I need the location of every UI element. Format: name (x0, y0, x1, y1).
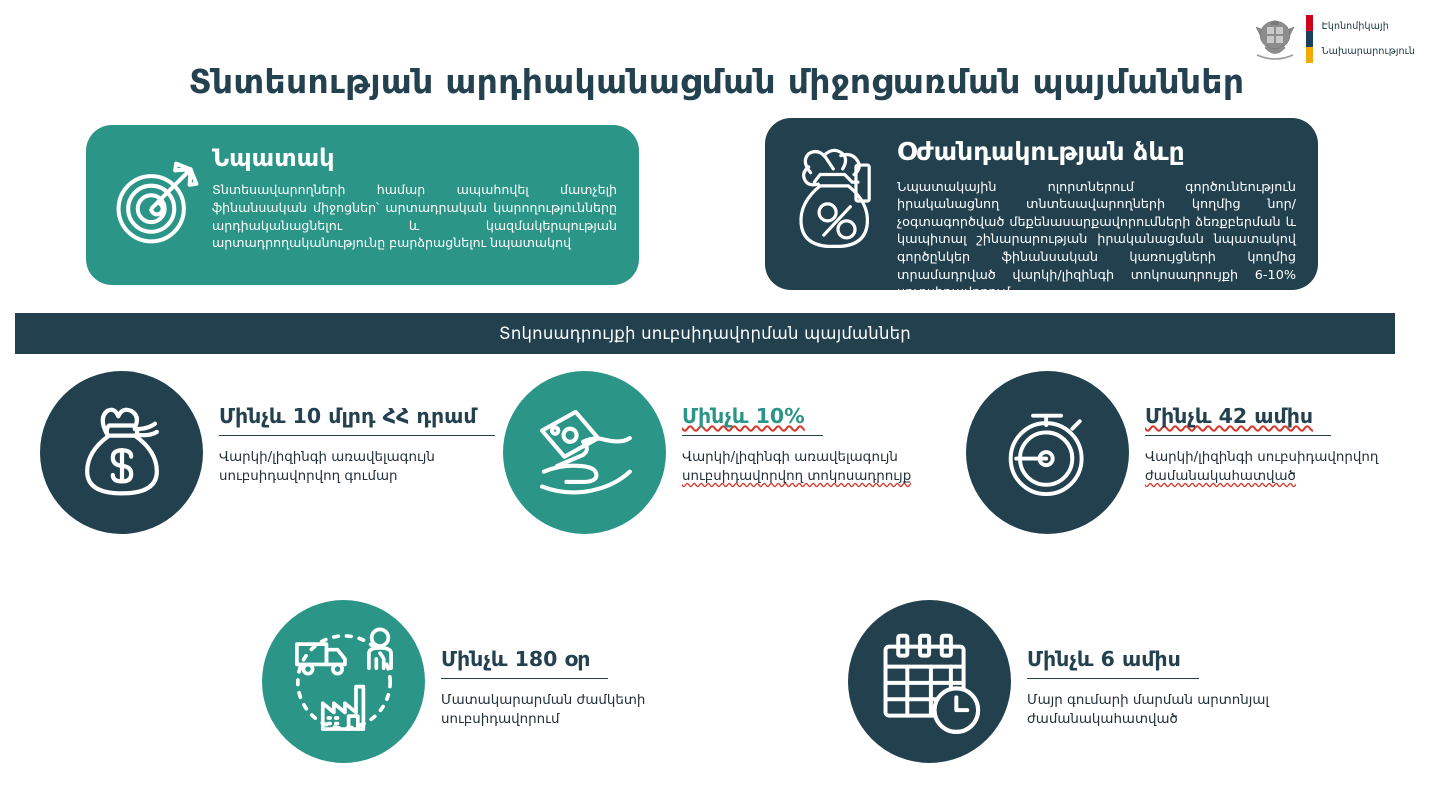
feature-subtitle-line1: Մայր գումարի մարման արտոնյալ (1027, 693, 1269, 708)
section-banner-label: Տոկոսադրույքի սուբսիդավորման պայմաններ (499, 324, 911, 343)
card-support-form-text: Նպատակային ոլորտներում գործունեություն ի… (897, 179, 1296, 303)
feature-subtitle-line1: Վարկի/լիզինգի առավելագույն (219, 450, 435, 465)
feature-subtitle-line1: Մատակարարման ժամկետի (441, 693, 645, 708)
feature-grace-period: Մինչև 6 ամիս Մայր գումարի մարման արտոնյա… (848, 600, 1269, 763)
feature-divider (441, 678, 608, 680)
hand-cash-icon (503, 371, 666, 534)
feature-subtitle-line2: ժամանակահատված (1027, 712, 1178, 727)
card-purpose-text: Տնտեսավարողների համար ապահովել մատչելի ֆ… (212, 181, 617, 252)
card-support-form-body: Օժանդակության ձևը Նպատակային ոլորտներում… (893, 136, 1296, 302)
feature-subtitle-line1: Վարկի/լիզինգի սուբսիդավորվող (1145, 450, 1378, 465)
feature-max-delivery-days-subtitle: Մատակարարման ժամկետի սուբսիդավորում (441, 691, 645, 729)
card-purpose-body: Նպատակ Տնտեսավարողների համար ապահովել մա… (208, 143, 617, 252)
money-bag-percent-icon (783, 136, 893, 266)
feature-grace-period-subtitle: Մայր գումարի մարման արտոնյալ ժամանակահատ… (1027, 691, 1269, 729)
feature-max-rate-subtitle: Վարկի/լիզինգի առավելագույն սուբսիդավորվո… (682, 448, 911, 486)
feature-max-amount-body: Մինչև 10 մլրդ ՀՀ դրամ Վարկի/լիզինգի առավ… (219, 371, 495, 486)
feature-max-months-heading: Մինչև 42 ամիս (1145, 405, 1313, 435)
feature-max-delivery-days-body: Մինչև 180 օր Մատակարարման ժամկետի սուբսի… (441, 600, 645, 729)
feature-max-rate-heading: Մինչև 10% (682, 405, 805, 435)
feature-max-months-body: Մինչև 42 ամիս Վարկի/լիզինգի սուբսիդավորվ… (1145, 371, 1378, 486)
feature-max-months: Մինչև 42 ամիս Վարկի/լիզինգի սուբսիդավորվ… (966, 371, 1378, 534)
ministry-name-line2: Նախարարություն (1322, 46, 1415, 59)
feature-max-amount-subtitle: Վարկի/լիզինգի առավելագույն սուբսիդավորվո… (219, 448, 484, 486)
feature-grace-period-heading: Մինչև 6 ամիս (1027, 648, 1181, 678)
section-banner: Տոկոսադրույքի սուբսիդավորման պայմաններ (15, 313, 1395, 354)
feature-subtitle-line2: սուբսիդավորվող տոկոսադրույք (682, 469, 911, 484)
feature-max-months-subtitle: Վարկի/լիզինգի սուբսիդավորվող ժամանակահատ… (1145, 448, 1378, 486)
feature-subtitle-line2: սուբսիդավորում (441, 712, 559, 727)
feature-subtitle-line1-text: Վարկի/լիզինգի սուբսիդավորվող (1145, 450, 1378, 465)
bar-blue (1306, 31, 1313, 47)
feature-divider (219, 435, 495, 437)
feature-max-delivery-days: Մինչև 180 օր Մատակարարման ժամկետի սուբսի… (262, 600, 645, 763)
feature-max-rate-body: Մինչև 10% Վարկի/լիզինգի առավելագույն սու… (682, 371, 911, 486)
card-purpose-title: Նպատակ (212, 145, 617, 171)
feature-divider (682, 435, 823, 437)
card-purpose: Նպատակ Տնտեսավարողների համար ապահովել մա… (86, 125, 639, 285)
card-support-form: Օժանդակության ձևը Նպատակային ոլորտներում… (765, 118, 1318, 290)
feature-subtitle-line2: ժամանակահատված (1145, 469, 1296, 484)
feature-divider (1027, 678, 1199, 680)
supply-chain-truck-factory-icon (262, 600, 425, 763)
feature-max-amount: Մինչև 10 մլրդ ՀՀ դրամ Վարկի/լիզինգի առավ… (40, 371, 495, 534)
feature-max-delivery-days-heading: Մինչև 180 օր (441, 648, 590, 678)
money-bag-dollar-icon (40, 371, 203, 534)
feature-subtitle-line1: Վարկի/լիզինգի առավելագույն (682, 450, 898, 465)
stopwatch-icon (966, 371, 1129, 534)
feature-max-rate: Մինչև 10% Վարկի/լիզինգի առավելագույն սու… (503, 371, 911, 534)
card-support-form-title: Օժանդակության ձևը (897, 138, 1296, 166)
bar-red (1306, 15, 1313, 31)
feature-divider (1145, 435, 1331, 437)
ministry-name-line1: Էկոնոմիկայի (1322, 21, 1415, 34)
calendar-clock-icon (848, 600, 1011, 763)
bar-yellow (1306, 47, 1313, 63)
page-title: Տնտեսության արդիականացման միջոցառման պայ… (0, 62, 1433, 101)
slide-canvas: Էկոնոմիկայի Նախարարություն Տնտեսության ա… (0, 0, 1433, 810)
feature-max-amount-heading: Մինչև 10 մլրդ ՀՀ դրամ (219, 405, 477, 435)
feature-subtitle-line2: սուբսիդավորվող գումար (219, 469, 398, 484)
feature-grace-period-body: Մինչև 6 ամիս Մայր գումարի մարման արտոնյա… (1027, 600, 1269, 729)
armenian-coat-of-arms-icon (1253, 15, 1297, 63)
target-arrow-icon (104, 143, 208, 261)
tricolor-bars (1306, 15, 1313, 63)
